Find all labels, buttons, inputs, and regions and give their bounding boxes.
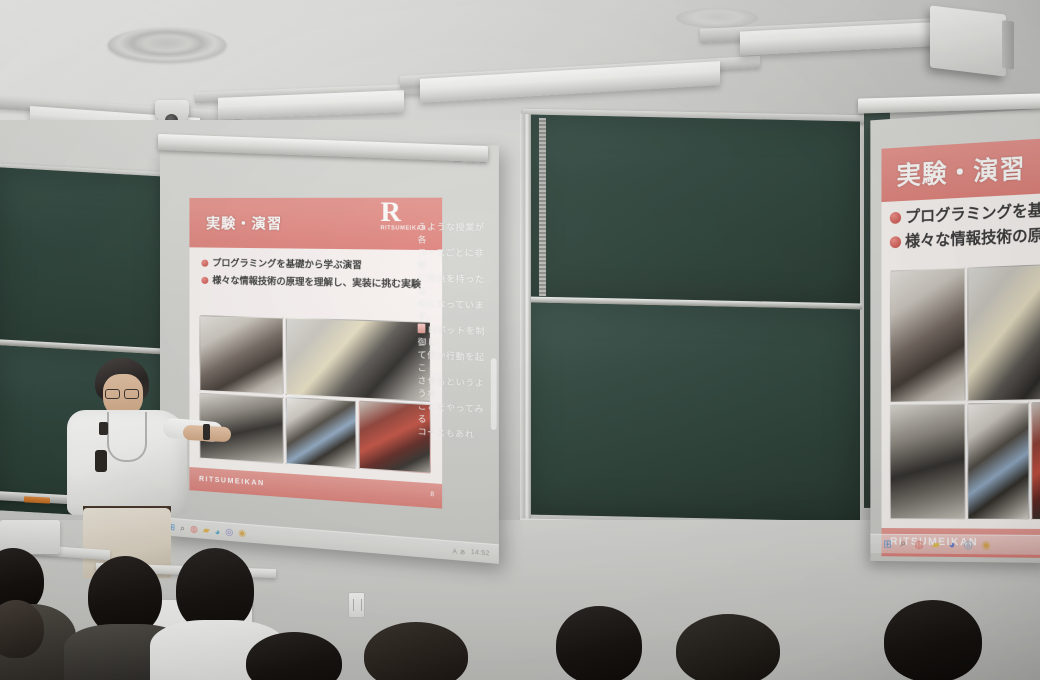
eyeglasses-icon	[105, 389, 139, 397]
slide-left: 実験・演習 R RITSUMEIKAN プログラミングを基礎から学ぶ演習 様々な…	[189, 198, 442, 509]
presenter	[55, 358, 205, 573]
audience-head	[676, 614, 780, 680]
edge-icon[interactable]: ◕	[215, 526, 220, 537]
slide-right-title: 実験・演習	[896, 148, 1025, 192]
projection-screen-right[interactable]: 実験・演習 プログラミングを基礎から学ぶ演習 様々な情報技術の原理を理解し、実装…	[870, 108, 1040, 563]
bullet-text: 様々な情報技術の原理を理解し、実装に挑む実験	[212, 275, 421, 290]
air-diffuser-vent-icon	[108, 28, 226, 62]
caption-line: のになっています。	[418, 298, 488, 326]
wristwatch-icon	[203, 424, 210, 440]
slide-bullet-item: プログラミングを基礎から学ぶ演習	[201, 257, 428, 271]
slide-bullet-item: 様々な情報技術の原理を理解し、実装に挑む実験	[890, 224, 1040, 252]
collage-photo-lab-students	[890, 268, 965, 403]
chalkboard-center-upper	[528, 115, 860, 312]
air-diffuser-vent-secondary-icon	[676, 8, 758, 28]
lanyard-microphone-icon	[95, 450, 107, 472]
bullet-text: プログラミングを基礎から学ぶ演習	[212, 258, 362, 271]
audience-head	[556, 606, 642, 680]
logo-letter: R	[380, 198, 401, 228]
chalkboard-center-lower	[526, 303, 860, 522]
bullet-text: プログラミングを基礎から学ぶ演習	[905, 196, 1040, 227]
taskbar-clock: 14:52	[471, 549, 490, 557]
slide-right-header-bar: 実験・演習	[881, 135, 1040, 202]
slide-photo-collage	[199, 315, 431, 474]
chalkboard-center-left-post	[520, 114, 531, 534]
wall-outlet	[348, 592, 365, 618]
bullet-dot-icon	[890, 236, 901, 248]
caption-bullet-icon	[418, 323, 426, 333]
projection-screen-left[interactable]: —□✕ 実験・演習 R RITSUMEIKAN プログラミングを基礎から学ぶ演習…	[160, 145, 499, 563]
caption-line: に特色を持ったも	[418, 272, 488, 299]
slide-bullet-list: プログラミングを基礎から学ぶ演習 様々な情報技術の原理を理解し、実装に挑む実験	[189, 248, 442, 302]
bullet-dot-icon	[201, 276, 208, 283]
caption-line: させるというような	[418, 375, 488, 404]
collage-photo-robot-arena	[286, 318, 432, 402]
slide-title: 実験・演習	[206, 213, 282, 234]
collage-photo-circuit-board	[890, 403, 965, 519]
edge-icon[interactable]: ◕	[949, 539, 955, 551]
slide-right-photo-collage	[890, 262, 1040, 520]
search-icon[interactable]: ⌕	[900, 538, 906, 551]
chalkboard-slide-rack	[539, 118, 546, 296]
collage-photo-robot-arena	[967, 262, 1040, 401]
slide-right: 実験・演習 プログラミングを基礎から学ぶ演習 様々な情報技術の原理を理解し、実装…	[881, 135, 1040, 559]
windows-taskbar-right[interactable]: ⊞ ⌕ ◍ ▰ ◕ ◎ ◉	[870, 534, 1040, 555]
ceiling-speaker-icon	[930, 5, 1006, 76]
bullet-dot-icon	[201, 259, 208, 266]
taskbar-icon-group-right[interactable]: ⊞ ⌕ ◍ ▰ ◕ ◎ ◉	[883, 538, 990, 552]
caption-column: うような授業が各 コースごとに非常 に特色を持ったも のになっています。 ロボッ…	[418, 221, 488, 442]
slide-page-number: 8	[430, 492, 434, 499]
app-icon[interactable]: ◉	[982, 538, 991, 551]
bullet-dot-icon	[890, 212, 901, 224]
lecture-hall-photo: —□✕ 実験・演習 R RITSUMEIKAN プログラミングを基礎から学ぶ演習…	[0, 0, 1040, 680]
slide-bullet-item: 様々な情報技術の原理を理解し、実装に挑む実験	[201, 274, 428, 289]
caption-line: コースごとに非常	[418, 247, 488, 274]
slide-bullet-item: プログラミングを基礎から学ぶ演習	[890, 200, 1040, 228]
lanyard-clip	[99, 422, 108, 435]
teams-icon[interactable]: ◎	[225, 526, 233, 538]
caption-line: ことをやってみる	[418, 400, 488, 429]
caption-line: ロボットを制御し	[418, 325, 486, 348]
audience-head	[884, 600, 982, 680]
slide-footer-bar: RITSUMEIKAN 8	[189, 467, 442, 509]
start-icon[interactable]: ⊞	[883, 538, 892, 551]
app-icon[interactable]: ◉	[238, 527, 246, 539]
slide-footer-brand: RITSUMEIKAN	[199, 476, 265, 488]
ceiling-camera-icon	[155, 100, 189, 122]
collage-photo-students-device	[286, 397, 356, 469]
ime-indicator[interactable]: A ぁ	[452, 546, 466, 557]
teams-icon[interactable]: ◎	[964, 538, 973, 551]
collage-photo-lab-students	[199, 315, 284, 395]
chrome-icon[interactable]: ◍	[915, 538, 924, 551]
collage-photo-students-device	[967, 402, 1029, 520]
caption-line: て何か行動を起こ	[418, 349, 488, 377]
slide-header-bar: 実験・演習 R RITSUMEIKAN	[189, 198, 442, 251]
caption-line-with-bullet: ロボットを制御し	[418, 323, 488, 351]
system-tray[interactable]: A ぁ 14:52	[452, 546, 489, 559]
slide-right-bullet-list: プログラミングを基礎から学ぶ演習 様々な情報技術の原理を理解し、実装に挑む実験	[881, 190, 1040, 261]
collage-photo-red-machine-part	[1031, 401, 1040, 520]
lanyard	[107, 412, 147, 462]
file-explorer-icon[interactable]: ▰	[932, 538, 940, 551]
caption-scrollbar[interactable]	[491, 358, 497, 430]
caption-line: うような授業が各	[418, 221, 488, 247]
